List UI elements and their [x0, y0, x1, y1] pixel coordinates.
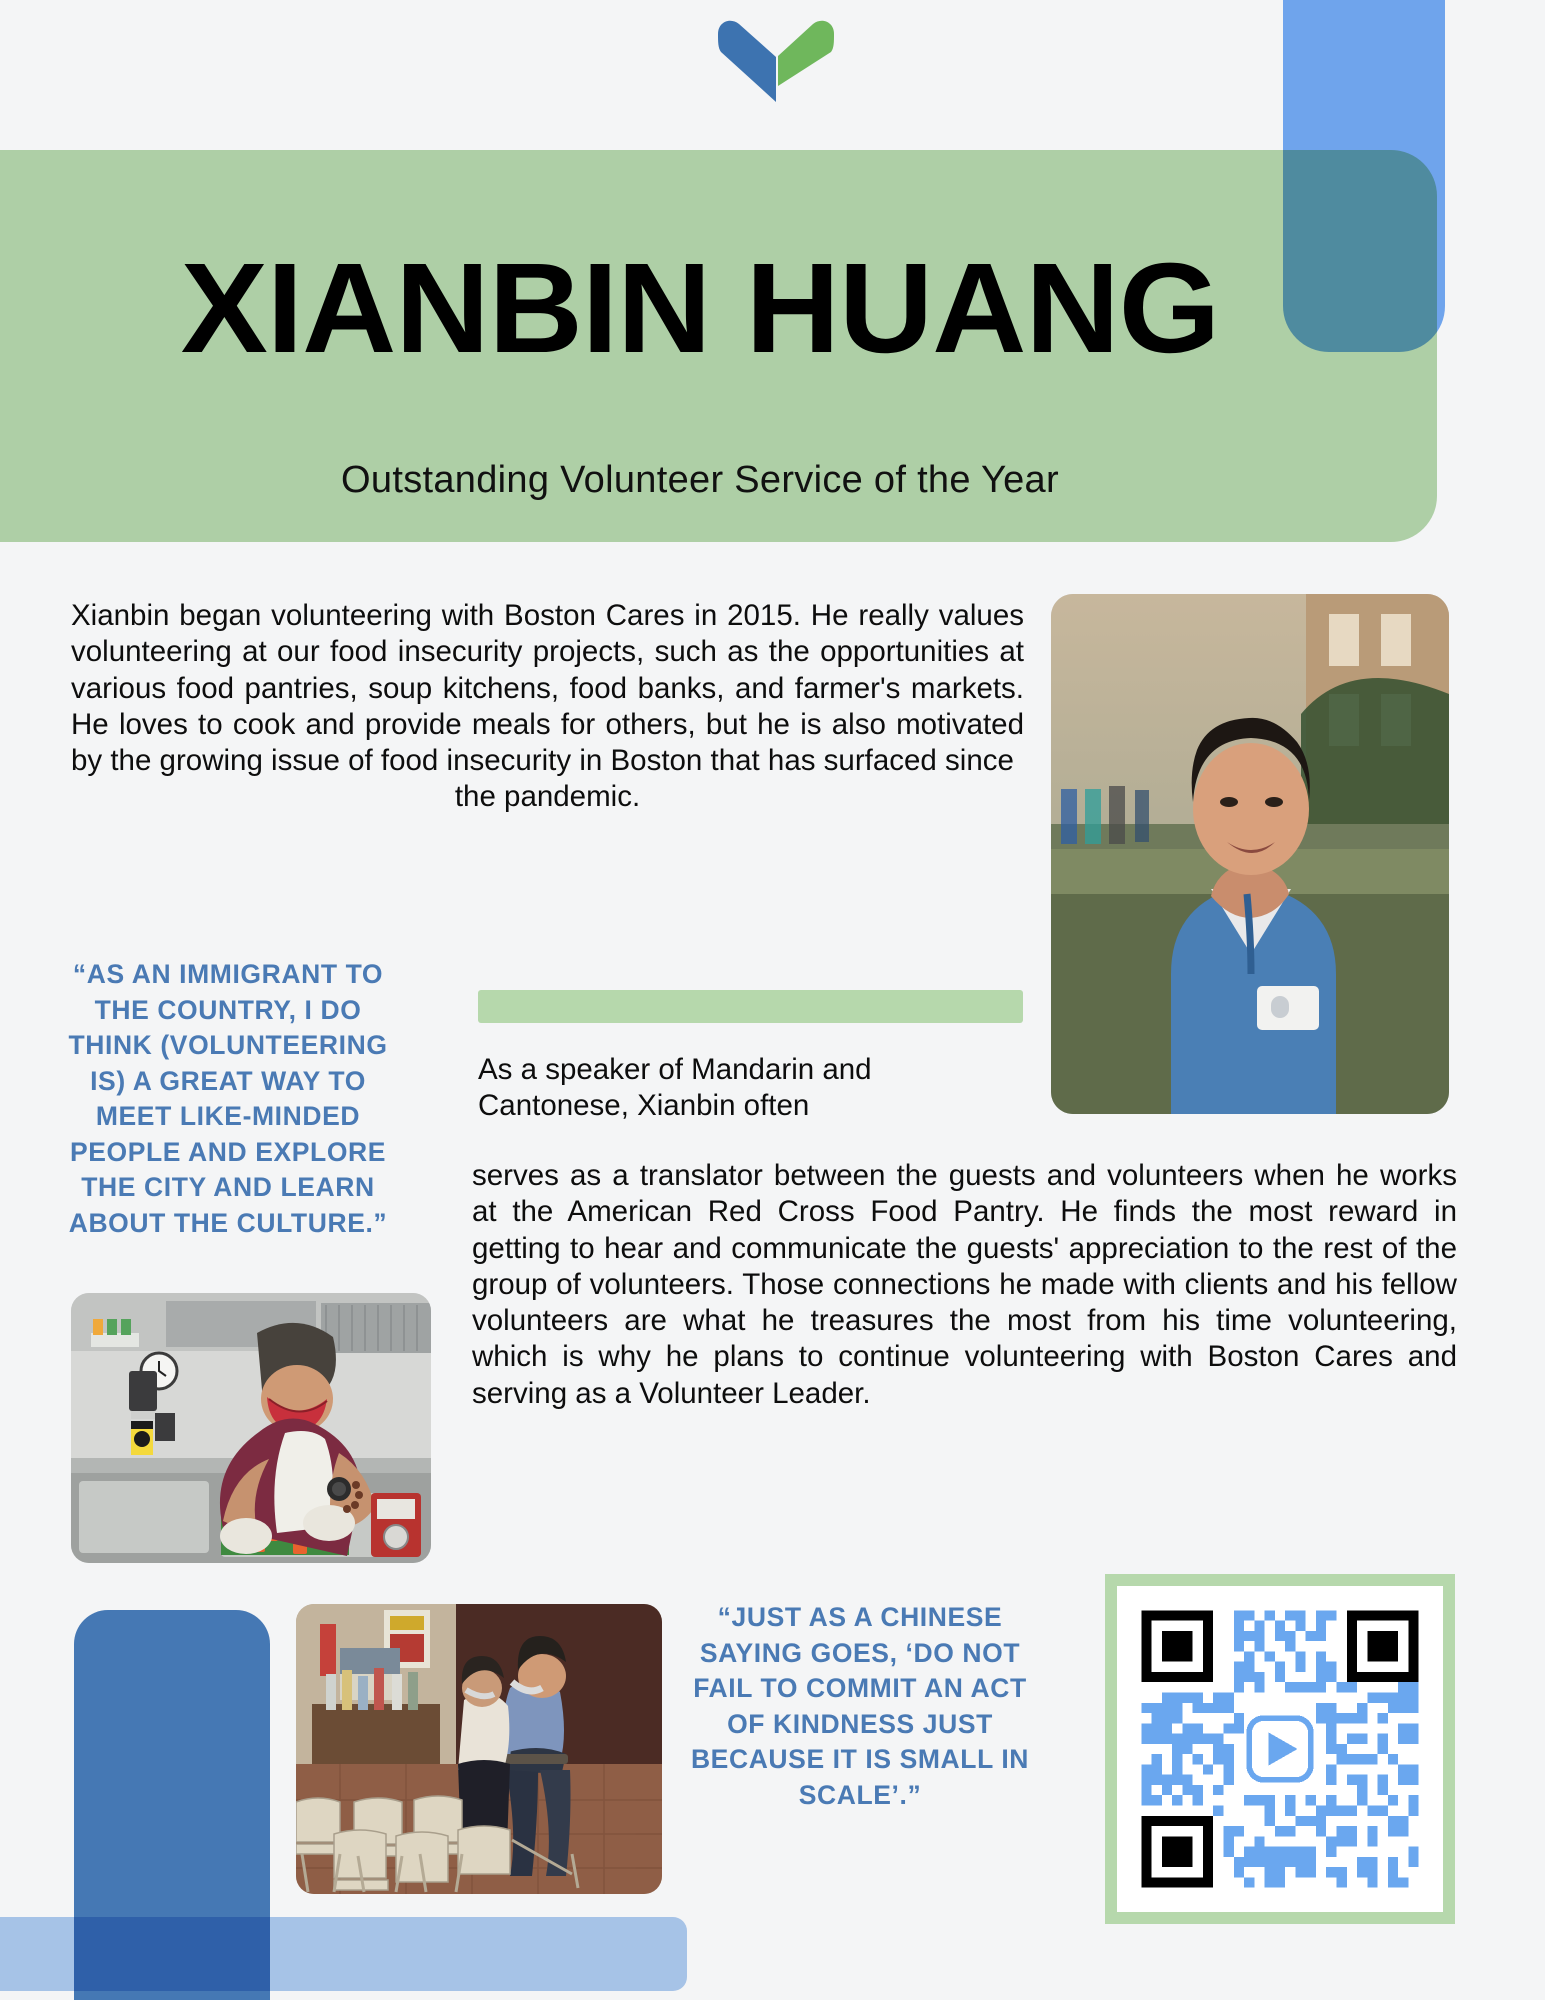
green-divider-bar: [478, 990, 1023, 1023]
video-qr-code[interactable]: [1105, 1574, 1455, 1924]
decor-blue-bottom-stripe: [0, 1917, 687, 1991]
pull-quote-left: “AS AN IMMIGRANT TO THE COUNTRY, I DO TH…: [62, 957, 394, 1241]
photo-chairs: [296, 1604, 662, 1894]
paragraph-1-last-line: the pandemic.: [71, 779, 1024, 815]
body-paragraph-2-intro: As a speaker of Mandarin and Cantonese, …: [478, 1052, 1023, 1125]
page-subtitle: Outstanding Volunteer Service of the Yea…: [0, 459, 1400, 502]
qr-code-image[interactable]: [1117, 1586, 1443, 1912]
page-title: XIANBIN HUANG: [0, 245, 1414, 373]
body-paragraph-1: Xianbin began volunteering with Boston C…: [71, 598, 1024, 816]
boston-cares-heart-logo: [706, 16, 846, 104]
pull-quote-bottom: “JUST AS A CHINESE SAYING GOES, ‘DO NOT …: [690, 1600, 1030, 1813]
body-paragraph-2-rest: serves as a translator between the guest…: [472, 1158, 1457, 1412]
paragraph-1-text: Xianbin began volunteering with Boston C…: [71, 599, 1024, 777]
poster-canvas: XIANBIN HUANG Outstanding Volunteer Serv…: [0, 0, 1545, 2000]
photo-kitchen: [71, 1293, 431, 1563]
photo-portrait: [1051, 594, 1449, 1114]
